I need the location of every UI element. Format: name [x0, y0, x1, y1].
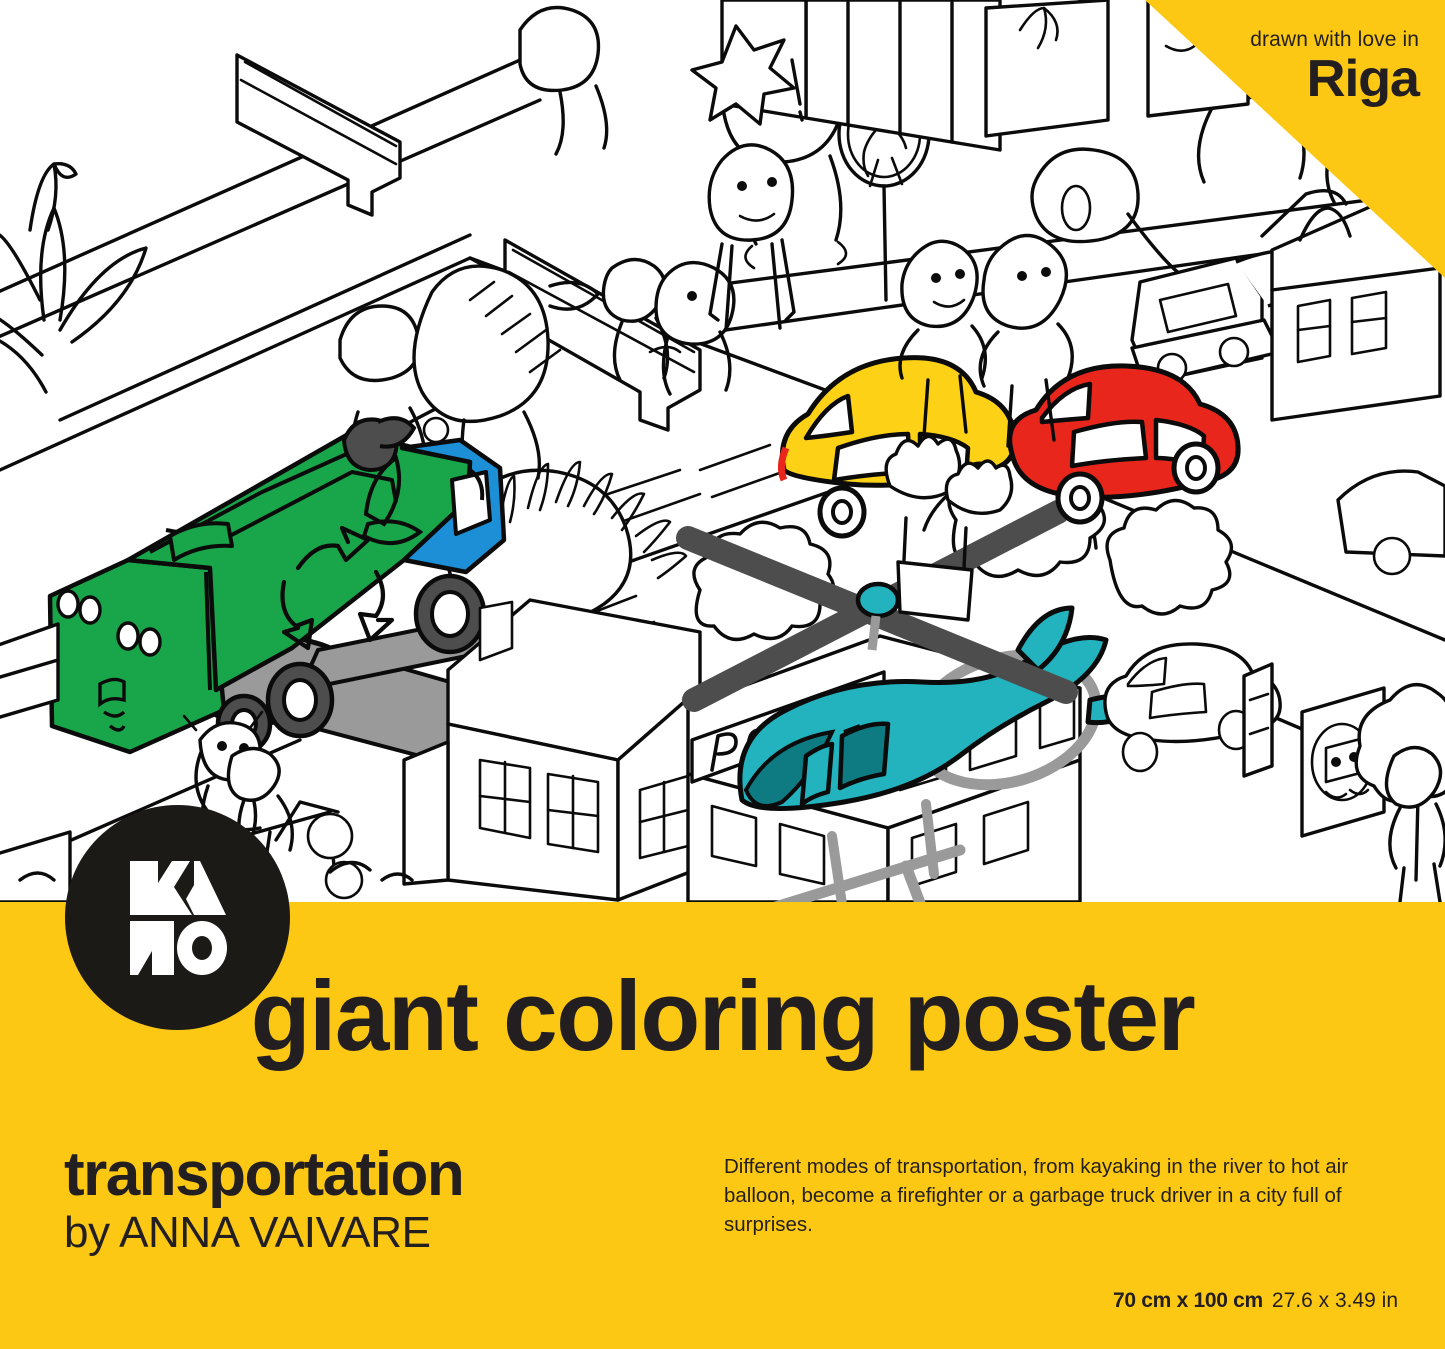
houses-right [1272, 206, 1440, 420]
kano-logo-badge[interactable] [65, 805, 290, 1030]
street-lamp-right [1244, 664, 1272, 776]
ribbon-tagline: drawn with love in [1250, 28, 1419, 51]
poster-card: .ln { fill:none; stroke:#0b0b0b; stroke-… [0, 0, 1445, 1349]
kano-logo-icon [128, 859, 228, 977]
title-block: transportation by ANNA VAIVARE [64, 1144, 463, 1259]
poster-description: Different modes of transportation, from … [724, 1152, 1400, 1239]
dimension-imperial: 27.6 x 3.49 in [1272, 1289, 1398, 1312]
window-carrot [1148, 0, 1248, 116]
ribbon-text-block: drawn with love in Riga [1250, 28, 1419, 105]
illustration-area: .ln { fill:none; stroke:#0b0b0b; stroke-… [0, 0, 1445, 902]
window-building-right [986, 0, 1108, 136]
city-coloring-illustration: .ln { fill:none; stroke:#0b0b0b; stroke-… [0, 0, 1445, 902]
poster-dimensions: 70 cm x 100 cm27.6 x 3.49 in [1113, 1289, 1398, 1313]
ribbon-city-name: Riga [1244, 53, 1419, 105]
poster-byline: by ANNA VAIVARE [64, 1208, 463, 1259]
dimension-metric: 70 cm x 100 cm [1113, 1289, 1263, 1312]
poster-subject-title: transportation [64, 1144, 463, 1206]
